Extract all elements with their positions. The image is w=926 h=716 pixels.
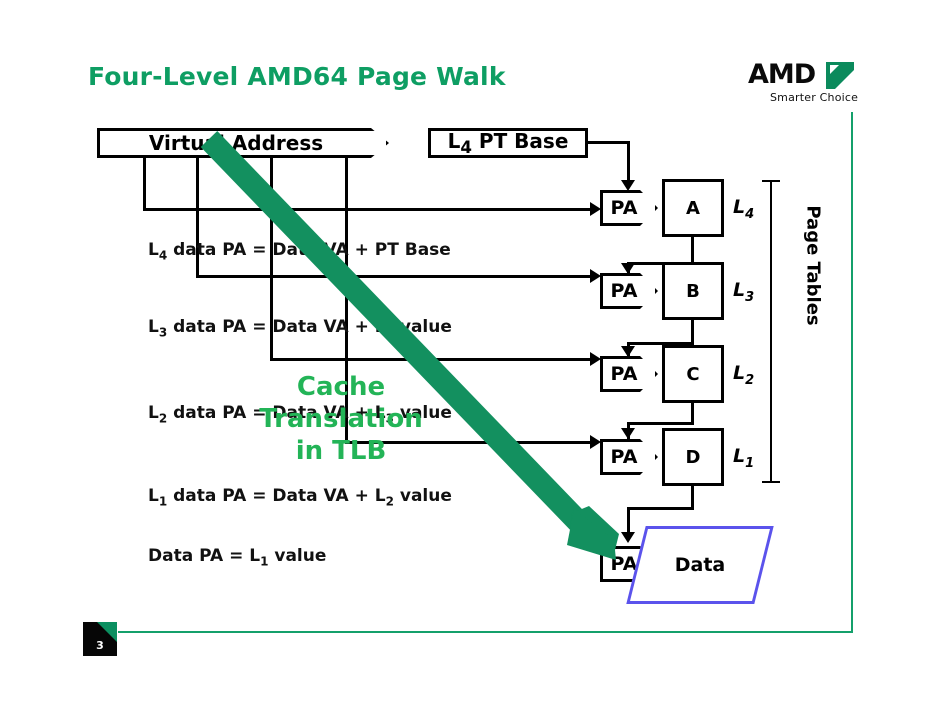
formula-data: Data PA = L1 value: [148, 546, 326, 568]
amd-arrow-mark-icon: [826, 62, 854, 89]
link-d-left: [627, 507, 694, 510]
formula-l3: L3 data PA = Data VA + L4 value: [148, 317, 452, 339]
amd-logo: AMD Smarter Choice: [748, 60, 860, 106]
link-d-into-pa: [627, 507, 630, 535]
page-table-label-b: B: [686, 281, 700, 302]
feed-arrowhead-l4: [590, 202, 601, 216]
frame-right-rule: [851, 112, 853, 633]
feed-line-l2: [270, 358, 598, 361]
cache-annotation-line1: Cache: [243, 371, 439, 403]
data-label: Data: [636, 526, 764, 604]
page-tables-bracket-cap-bottom: [762, 481, 780, 483]
pa-box-l4: PA: [600, 190, 658, 226]
ptbase-connector-h: [588, 141, 630, 144]
pa-box-l1: PA: [600, 439, 658, 475]
page-table-box-a: A: [662, 179, 724, 237]
page-tables-bracket-cap-top: [762, 180, 780, 182]
link-d-arrowhead: [621, 532, 635, 543]
pt-base-box: L4 PT Base: [428, 128, 588, 158]
link-a-down: [691, 237, 694, 265]
feed-arrowhead-l3: [590, 269, 601, 283]
link-b-arrowhead: [621, 346, 635, 357]
level-tag-l2: L2: [733, 362, 754, 388]
link-c-arrowhead: [621, 428, 635, 439]
pa-box-l2: PA: [600, 356, 658, 392]
virtual-address-box: Virtual Address: [97, 128, 389, 158]
formula-l1: L1 data PA = Data VA + L2 value: [148, 486, 452, 508]
feed-line-l4: [143, 208, 598, 211]
feed-arrowhead-l1: [590, 435, 601, 449]
link-c-left: [627, 422, 694, 425]
pa-label-l4: PA: [611, 197, 638, 219]
page-table-label-a: A: [686, 198, 700, 219]
amd-wordmark: AMD: [748, 60, 815, 90]
page-number-badge: 3: [83, 622, 117, 656]
level-tag-l4: L4: [733, 196, 754, 222]
pa-label-l3: PA: [611, 280, 638, 302]
cache-annotation-line3: in TLB: [243, 435, 439, 467]
page-table-box-c: C: [662, 345, 724, 403]
cache-annotation-line2: Translation: [243, 403, 439, 435]
page-number-label: 3: [83, 639, 117, 652]
slide-canvas: Four-Level AMD64 Page Walk AMD Smarter C…: [0, 0, 926, 716]
page-table-box-d: D: [662, 428, 724, 486]
amd-tagline: Smarter Choice: [770, 91, 858, 104]
pa-label-l2: PA: [611, 363, 638, 385]
ptbase-connector-v: [627, 141, 630, 183]
page-tables-bracket: [770, 180, 772, 482]
ptbase-arrowhead: [621, 180, 635, 191]
frame-bottom-rule: [118, 631, 853, 633]
level-tag-l3: L3: [733, 279, 754, 305]
page-title: Four-Level AMD64 Page Walk: [88, 62, 506, 91]
pt-base-label: L4 PT Base: [448, 129, 569, 157]
cache-translation-annotation: Cache Translation in TLB: [243, 371, 439, 467]
formula-l4: L4 data PA = Data VA + PT Base: [148, 240, 451, 262]
va-field-line-1: [143, 156, 146, 211]
page-table-label-c: C: [686, 364, 699, 385]
page-tables-label: Page Tables: [803, 191, 824, 341]
level-tag-l1: L1: [733, 445, 754, 471]
virtual-address-label: Virtual Address: [149, 131, 323, 155]
pa-label-l1: PA: [611, 446, 638, 468]
feed-line-l3: [196, 275, 598, 278]
page-table-box-b: B: [662, 262, 724, 320]
link-a-arrowhead: [621, 263, 635, 274]
pa-box-l3: PA: [600, 273, 658, 309]
feed-arrowhead-l2: [590, 352, 601, 366]
page-table-label-d: D: [686, 447, 701, 468]
